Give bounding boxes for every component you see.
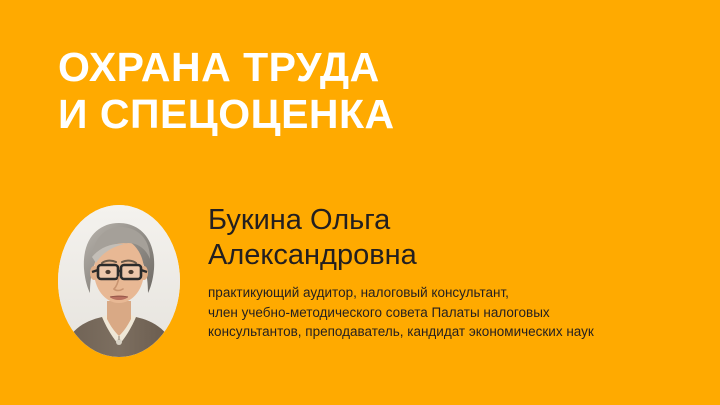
portrait-illustration bbox=[58, 205, 180, 357]
credential-line: практикующий аудитор, налоговый консульт… bbox=[208, 283, 698, 303]
speaker-name-line-2: Александровна bbox=[208, 238, 698, 273]
slide-title: ОХРАНА ТРУДА И СПЕЦОЦЕНКА bbox=[58, 44, 658, 138]
speaker-details: Букина Ольга Александровна практикующий … bbox=[208, 203, 698, 342]
title-line-2: И СПЕЦОЦЕНКА bbox=[58, 91, 658, 138]
credential-line: консультантов, преподаватель, кандидат э… bbox=[208, 322, 698, 342]
speaker-portrait-photo bbox=[58, 205, 180, 357]
speaker-block: Букина Ольга Александровна практикующий … bbox=[58, 205, 698, 365]
credential-line: член учебно-методического совета Палаты … bbox=[208, 303, 698, 323]
speaker-name-line-1: Букина Ольга bbox=[208, 203, 698, 238]
title-line-1: ОХРАНА ТРУДА bbox=[58, 44, 658, 91]
speaker-credentials: практикующий аудитор, налоговый консульт… bbox=[208, 283, 698, 342]
presentation-slide: ОХРАНА ТРУДА И СПЕЦОЦЕНКА bbox=[0, 0, 720, 405]
